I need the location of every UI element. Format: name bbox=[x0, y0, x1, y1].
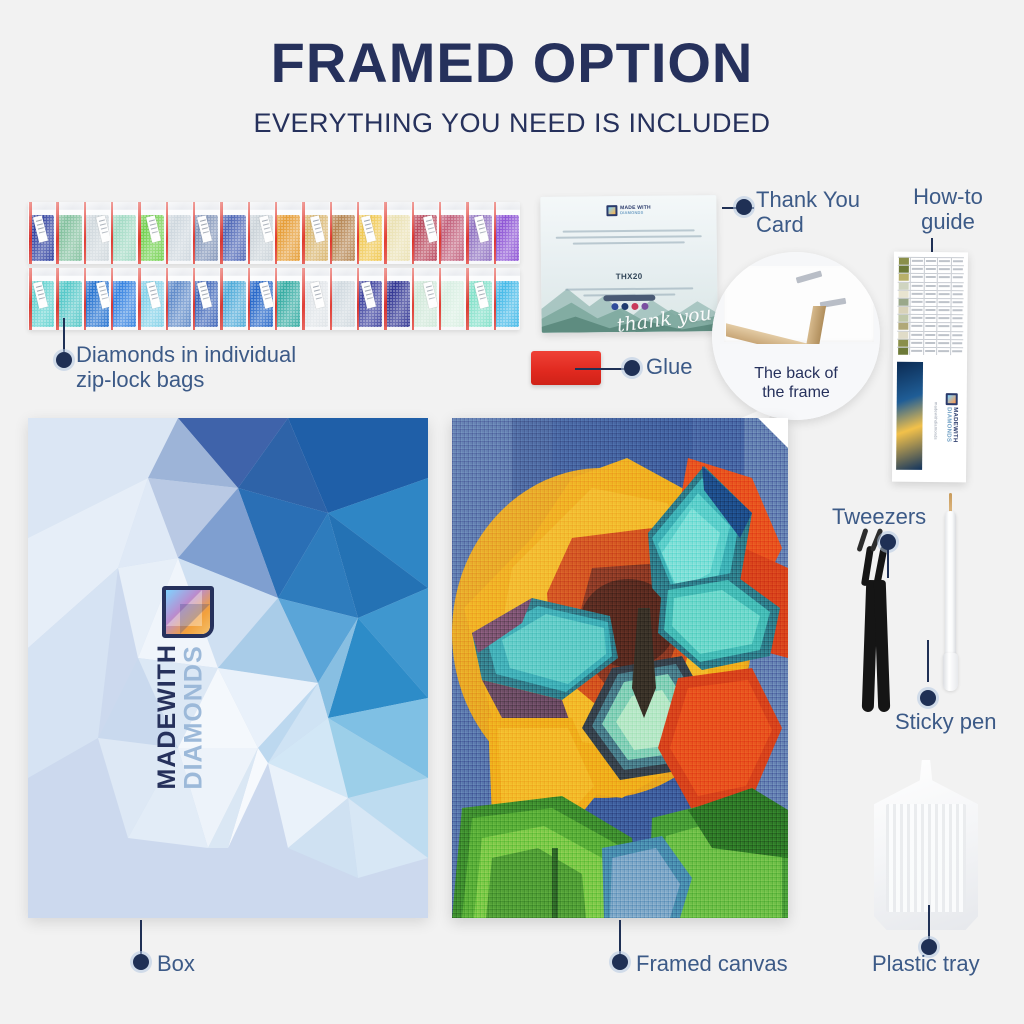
ziplock-bag bbox=[247, 202, 274, 264]
card-url-pill bbox=[603, 295, 655, 302]
bag-gloss bbox=[83, 268, 110, 330]
bag-gloss bbox=[55, 202, 82, 264]
card-brand-name: MADE WITHDIAMONDS bbox=[620, 206, 651, 215]
chart-text-line bbox=[912, 350, 922, 352]
box-brand-logo: MADEWITHDIAMONDS bbox=[152, 586, 216, 886]
frame-back-speech-bubble: The back of the frame bbox=[712, 252, 880, 420]
bag-gloss bbox=[219, 202, 246, 264]
diamond-logo-icon bbox=[162, 586, 214, 638]
chart-text-line bbox=[952, 285, 962, 287]
box-brand-name: MADEWITHDIAMONDS bbox=[154, 644, 207, 789]
bag-gloss bbox=[438, 268, 465, 330]
chart-text-line bbox=[925, 333, 935, 335]
color-swatch bbox=[898, 315, 908, 322]
color-swatch bbox=[899, 274, 909, 281]
chart-cell bbox=[937, 347, 949, 356]
ziplock-bag bbox=[28, 268, 55, 330]
ziplock-bag bbox=[55, 202, 82, 264]
plastic-tray-tool bbox=[874, 760, 978, 930]
chart-text-line bbox=[925, 342, 935, 344]
ziplock-bag bbox=[137, 202, 164, 264]
chart-text-line bbox=[939, 276, 949, 278]
chart-text-line bbox=[912, 292, 922, 294]
ziplock-bag bbox=[55, 268, 82, 330]
ziplock-bag bbox=[192, 202, 219, 264]
bag-gloss bbox=[274, 268, 301, 330]
ziplock-bag bbox=[192, 268, 219, 330]
ziplock-bag bbox=[83, 268, 110, 330]
ziplock-bag bbox=[411, 268, 438, 330]
chart-text-line bbox=[912, 309, 922, 311]
page-title: FRAMED OPTION bbox=[0, 34, 1024, 93]
guide-brand-logo: MADEWITHDIAMONDS bbox=[942, 390, 960, 446]
canvas-gloss bbox=[452, 418, 788, 918]
chart-text-line bbox=[925, 301, 935, 303]
color-swatch bbox=[899, 266, 909, 273]
bag-gloss bbox=[192, 268, 219, 330]
instagram-icon bbox=[631, 303, 638, 310]
bag-gloss bbox=[438, 202, 465, 264]
callout-label-plastic-tray: Plastic tray bbox=[872, 952, 980, 977]
chart-text-line bbox=[938, 342, 948, 344]
bag-gloss bbox=[247, 202, 274, 264]
ziplock-bag bbox=[165, 202, 192, 264]
how-to-guide-booklet: madewithdiamonds MADEWITHDIAMONDS bbox=[892, 252, 968, 483]
ziplock-bag bbox=[301, 268, 328, 330]
chart-text-line bbox=[912, 268, 922, 270]
ziplock-bag bbox=[411, 202, 438, 264]
chart-cell bbox=[911, 347, 923, 356]
ziplock-bag bbox=[219, 268, 246, 330]
chart-text-line bbox=[939, 317, 949, 319]
callout-label-how-to: How-to guide bbox=[893, 185, 1003, 234]
bag-gloss bbox=[83, 202, 110, 264]
bag-gloss bbox=[137, 202, 164, 264]
ziplock-bag bbox=[28, 202, 55, 264]
messenger-icon bbox=[621, 303, 628, 310]
callout-label-sticky-pen: Sticky pen bbox=[895, 710, 997, 735]
bag-gloss bbox=[329, 202, 356, 264]
color-swatch bbox=[898, 348, 908, 355]
chart-text-line bbox=[939, 260, 949, 262]
ziplock-bag bbox=[110, 202, 137, 264]
bag-gloss bbox=[192, 202, 219, 264]
chart-text-line bbox=[912, 301, 922, 303]
pen-grip bbox=[943, 653, 958, 691]
callout-dot-framed-canvas bbox=[612, 954, 628, 970]
pen-body bbox=[945, 511, 956, 661]
bag-gloss bbox=[28, 202, 55, 264]
bag-gloss bbox=[165, 268, 192, 330]
ziplock-bag bbox=[274, 268, 301, 330]
color-swatch bbox=[898, 339, 908, 346]
ziplock-bag bbox=[247, 268, 274, 330]
bag-gloss bbox=[110, 268, 137, 330]
chart-text-line bbox=[912, 341, 922, 343]
chart-column bbox=[910, 257, 924, 355]
chart-text-line bbox=[939, 293, 949, 295]
chart-cell bbox=[924, 347, 936, 356]
chart-text-line bbox=[938, 350, 948, 352]
leader-line-diamonds bbox=[63, 318, 65, 352]
card-text-line bbox=[556, 235, 702, 239]
bag-gloss bbox=[301, 268, 328, 330]
chart-text-line bbox=[925, 293, 935, 295]
chart-text-line bbox=[912, 276, 922, 278]
chart-text-line bbox=[939, 309, 949, 311]
callout-label-box: Box bbox=[157, 952, 195, 977]
guide-brand-name: MADEWITHDIAMONDS bbox=[945, 407, 958, 443]
bag-gloss bbox=[493, 202, 520, 264]
card-text-line bbox=[565, 287, 693, 290]
chart-text-line bbox=[952, 309, 962, 311]
leader-line-plastic-tray bbox=[928, 905, 930, 941]
chart-text-line bbox=[952, 317, 962, 319]
pinterest-icon bbox=[641, 303, 648, 310]
bag-gloss bbox=[274, 202, 301, 264]
bag-gloss bbox=[137, 268, 164, 330]
bag-gloss bbox=[219, 268, 246, 330]
bag-gloss bbox=[356, 268, 383, 330]
card-brand-logo: MADE WITHDIAMONDS bbox=[540, 204, 716, 217]
chart-text-line bbox=[952, 342, 962, 344]
ziplock-bag bbox=[301, 202, 328, 264]
chart-column bbox=[923, 257, 937, 355]
chart-text-line bbox=[952, 301, 962, 303]
chart-text-line bbox=[952, 277, 962, 279]
ziplock-bag bbox=[329, 202, 356, 264]
ziplock-bag bbox=[110, 268, 137, 330]
chart-text-line bbox=[926, 260, 936, 262]
chart-text-line bbox=[912, 260, 922, 262]
card-body-text bbox=[551, 225, 707, 249]
chart-column bbox=[950, 257, 964, 355]
chart-text-line bbox=[952, 334, 962, 336]
chart-text-line bbox=[952, 293, 962, 295]
ziplock-bag-row-top bbox=[28, 202, 520, 264]
color-swatch bbox=[898, 331, 908, 338]
ziplock-bag bbox=[465, 202, 492, 264]
chart-text-line bbox=[952, 268, 962, 270]
ziplock-bag bbox=[383, 202, 410, 264]
chart-cell bbox=[951, 347, 963, 356]
chart-text-line bbox=[952, 326, 962, 328]
chart-text-line bbox=[912, 325, 922, 327]
chart-text-line bbox=[953, 260, 963, 262]
chart-text-line bbox=[925, 350, 935, 352]
bag-gloss bbox=[465, 268, 492, 330]
leader-line-tweezers bbox=[887, 548, 889, 578]
chart-text-line bbox=[952, 350, 962, 352]
ziplock-bag bbox=[137, 268, 164, 330]
diamond-logo-icon bbox=[606, 205, 617, 216]
bag-gloss bbox=[383, 202, 410, 264]
diamond-logo-icon bbox=[946, 393, 958, 405]
ziplock-bag bbox=[356, 268, 383, 330]
bag-gloss bbox=[465, 202, 492, 264]
bag-gloss bbox=[301, 202, 328, 264]
ziplock-bag bbox=[465, 268, 492, 330]
bag-gloss bbox=[110, 202, 137, 264]
bag-gloss bbox=[411, 202, 438, 264]
tray-ribs bbox=[886, 804, 966, 912]
chart-text-line bbox=[926, 276, 936, 278]
guide-cover-photo bbox=[896, 362, 923, 470]
framed-canvas bbox=[452, 418, 788, 918]
ziplock-bag-row-bottom bbox=[28, 268, 520, 330]
leader-line-box bbox=[140, 920, 142, 956]
bag-gloss bbox=[383, 268, 410, 330]
ziplock-bag bbox=[165, 268, 192, 330]
ziplock-bag bbox=[83, 202, 110, 264]
bag-gloss bbox=[411, 268, 438, 330]
chart-text-line bbox=[912, 333, 922, 335]
ziplock-bag bbox=[356, 202, 383, 264]
chart-text-line bbox=[925, 325, 935, 327]
color-swatch bbox=[899, 299, 909, 306]
chart-text-line bbox=[912, 317, 922, 319]
ziplock-bag bbox=[493, 202, 520, 264]
ziplock-bag bbox=[383, 268, 410, 330]
callout-dot-box bbox=[133, 954, 149, 970]
thank-you-card: MADE WITHDIAMONDS THX20 thank you bbox=[540, 195, 717, 333]
color-swatch bbox=[899, 282, 909, 289]
infographic-canvas: FRAMED OPTION EVERYTHING YOU NEED IS INC… bbox=[0, 0, 1024, 1024]
ziplock-bag bbox=[274, 202, 301, 264]
tweezers-tool bbox=[852, 528, 896, 713]
chart-text-line bbox=[912, 284, 922, 286]
callout-label-diamonds: Diamonds in individual zip-lock bags bbox=[76, 343, 296, 392]
color-swatch bbox=[898, 323, 908, 330]
callout-dot-glue bbox=[624, 360, 640, 376]
color-swatch bbox=[899, 290, 909, 297]
bag-gloss bbox=[356, 202, 383, 264]
guide-side-text: madewithdiamonds bbox=[933, 402, 938, 440]
bag-gloss bbox=[329, 268, 356, 330]
card-text-line bbox=[573, 241, 685, 244]
chart-text-line bbox=[939, 268, 949, 270]
callout-label-tweezers: Tweezers bbox=[832, 505, 926, 530]
chart-text-line bbox=[925, 309, 935, 311]
ziplock-bag bbox=[438, 202, 465, 264]
bag-gloss bbox=[165, 202, 192, 264]
color-chart-table bbox=[897, 257, 964, 356]
bag-gloss bbox=[55, 268, 82, 330]
bag-gloss bbox=[247, 268, 274, 330]
page-subtitle: EVERYTHING YOU NEED IS INCLUDED bbox=[0, 108, 1024, 139]
chart-text-line bbox=[939, 285, 949, 287]
bag-gloss bbox=[493, 268, 520, 330]
callout-label-thank-you: Thank You Card bbox=[756, 188, 860, 237]
bag-gloss bbox=[28, 268, 55, 330]
callout-dot-thank-you bbox=[736, 199, 752, 215]
chart-text-line bbox=[925, 317, 935, 319]
product-box bbox=[28, 418, 428, 918]
callout-label-glue: Glue bbox=[646, 355, 692, 380]
ziplock-bag bbox=[438, 268, 465, 330]
bubble-label: The back of the frame bbox=[712, 364, 880, 402]
chart-text-line bbox=[939, 325, 949, 327]
card-discount-code: THX20 bbox=[541, 271, 717, 282]
box-polygon-pattern bbox=[28, 418, 428, 918]
card-text-line bbox=[563, 229, 695, 232]
ziplock-bag bbox=[329, 268, 356, 330]
chart-text-line bbox=[939, 301, 949, 303]
facebook-icon bbox=[611, 303, 618, 310]
sticky-pen-tool bbox=[940, 493, 962, 698]
callout-dot-sticky-pen bbox=[920, 690, 936, 706]
chart-column bbox=[897, 257, 910, 355]
ziplock-bag bbox=[219, 202, 246, 264]
callout-dot-diamonds bbox=[56, 352, 72, 368]
chart-text-line bbox=[926, 284, 936, 286]
chart-cell bbox=[897, 347, 909, 356]
leader-line-sticky-pen bbox=[927, 640, 929, 682]
chart-column bbox=[936, 257, 950, 355]
callout-label-framed-canvas: Framed canvas bbox=[636, 952, 788, 977]
leader-line-glue bbox=[575, 368, 630, 370]
chart-text-line bbox=[926, 268, 936, 270]
leader-line-framed-canvas bbox=[619, 920, 621, 956]
ziplock-bag bbox=[493, 268, 520, 330]
color-swatch bbox=[898, 307, 908, 314]
color-swatch bbox=[899, 258, 909, 265]
chart-text-line bbox=[938, 334, 948, 336]
